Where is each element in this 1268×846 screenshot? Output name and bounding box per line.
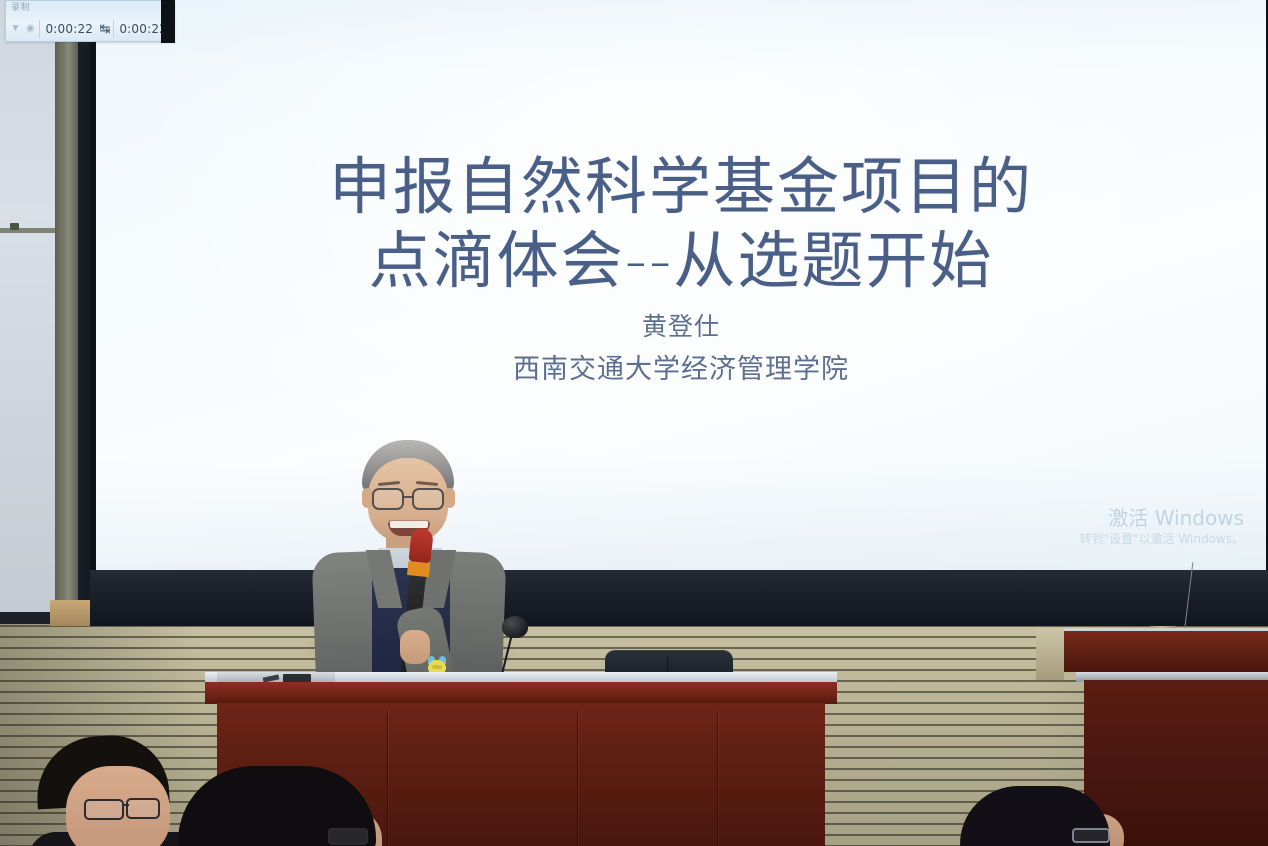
- audience-right-glasses: [1072, 828, 1110, 843]
- elapsed-time: 0:00:22: [40, 22, 98, 36]
- microphone-head: [408, 527, 433, 563]
- toolbar-divider-2: [113, 20, 114, 38]
- record-circle-icon[interactable]: ◉: [23, 18, 38, 40]
- lectern-top: [1036, 628, 1268, 672]
- toolbar-divider: [39, 20, 40, 38]
- gooseneck-head: [502, 616, 528, 638]
- lectern-cap: [1036, 628, 1064, 680]
- audience-member-center: [178, 766, 388, 846]
- watermark-line2: 转到"设置"以激活 Windows。: [1080, 531, 1244, 548]
- slide-presenter-name: 黄登仕: [96, 310, 1266, 344]
- glasses-lens-left: [372, 488, 404, 510]
- chevron-down-icon[interactable]: ▼: [8, 18, 23, 40]
- audience-left-glasses-lens-right: [126, 798, 160, 819]
- loop-reset-icon[interactable]: ↹: [98, 21, 112, 37]
- audience-member-left: [28, 736, 186, 846]
- slide-title-line1: 申报自然科学基金项目的: [329, 150, 1033, 223]
- podium-edge: [205, 682, 837, 704]
- podium-seam-3: [717, 711, 719, 846]
- screen-lower-bezel: [90, 570, 1268, 626]
- whiteboard-frame: [62, 0, 78, 624]
- audience-center-glasses: [328, 828, 368, 845]
- slide-title: 申报自然科学基金项目的 点滴体会--从选题开始: [96, 150, 1266, 298]
- presenter-hand: [400, 630, 430, 664]
- toy-face: [432, 665, 442, 669]
- slide-affiliation: 西南交通大学经济管理学院: [96, 352, 1266, 388]
- podium-seam-2: [577, 711, 579, 846]
- glasses-bridge: [403, 496, 413, 498]
- lecture-hall-photo: 申报自然科学基金项目的 点滴体会--从选题开始 黄登仕 西南交通大学经济管理学院…: [0, 0, 1268, 846]
- presenter-ear-right: [444, 488, 455, 508]
- watermark-line1: 激活 Windows: [1080, 506, 1244, 531]
- windows-activation-watermark: 激活 Windows 转到"设置"以激活 Windows。: [1080, 506, 1244, 548]
- presentation-slide: 申报自然科学基金项目的 点滴体会--从选题开始 黄登仕 西南交通大学经济管理学院…: [96, 0, 1266, 572]
- recording-toolbar-row: ▼ ◉ 0:00:22 ↹ 0:00:22: [6, 16, 174, 41]
- toolbar-edge-mask: [161, 0, 175, 43]
- recording-toolbar[interactable]: 录制 ▼ ◉ 0:00:22 ↹ 0:00:22: [5, 0, 175, 42]
- whiteboard-clip: [10, 223, 19, 230]
- gooseneck-microphone: [494, 616, 536, 678]
- recording-toolbar-title: 录制: [6, 1, 174, 16]
- audience-member-right: [960, 786, 1130, 846]
- audience-left-glasses-lens-left: [84, 799, 124, 820]
- audience-left-glasses-bridge: [123, 804, 129, 806]
- glasses-lens-right: [412, 488, 444, 510]
- slide-title-line2: 点滴体会--从选题开始: [96, 224, 1266, 298]
- presenter: [306, 440, 506, 710]
- whiteboard: [0, 0, 96, 624]
